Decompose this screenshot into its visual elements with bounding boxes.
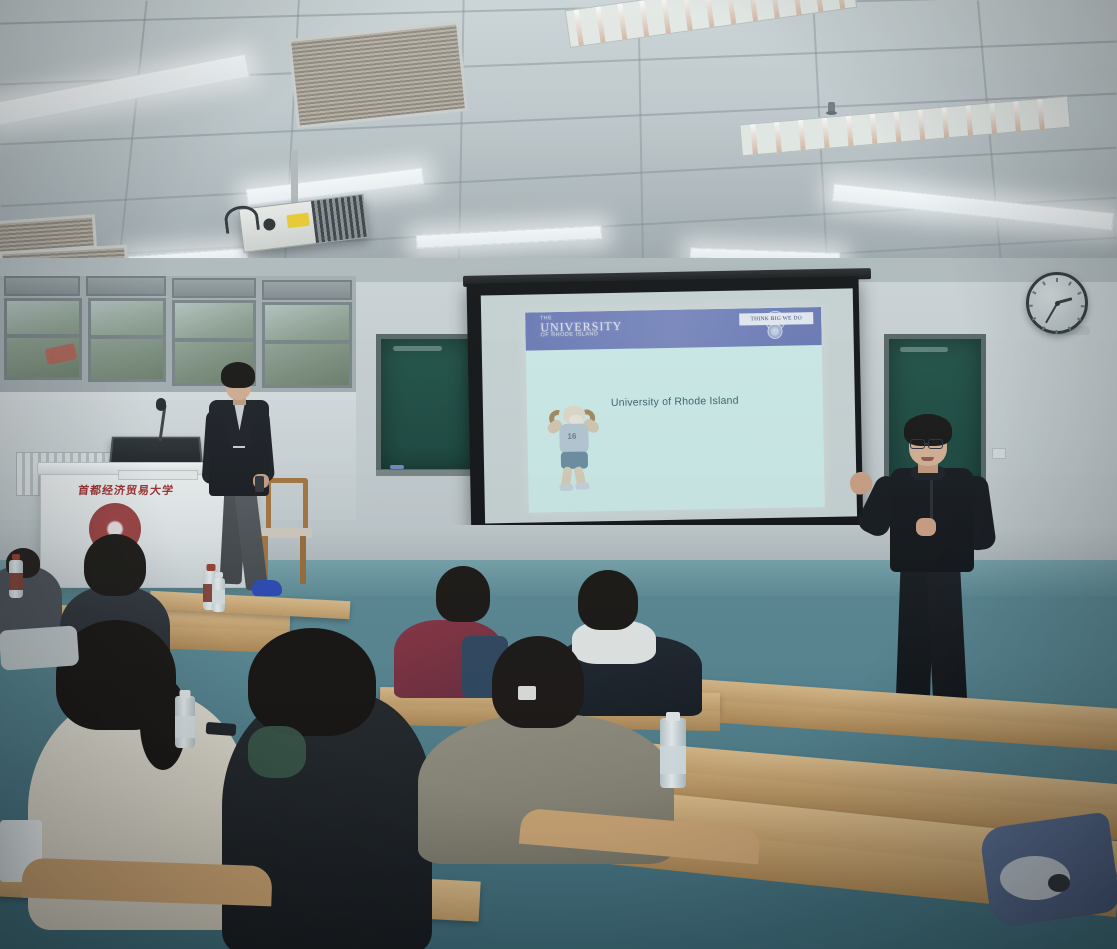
- chalk-piece: [390, 465, 404, 469]
- backpack-buckle: [1048, 874, 1070, 892]
- presenter-mouth: [921, 457, 934, 461]
- slide-header-band: THE UNIVERSITY OF RHODE ISLAND THINK BIG…: [525, 307, 822, 351]
- lectern-keyboard[interactable]: [118, 470, 198, 480]
- clock-center-pin: [1055, 301, 1060, 306]
- window-pane: [4, 298, 82, 380]
- student-mid-olive-coat-head: [492, 636, 584, 728]
- student-mid-white-hoodie-head: [578, 570, 638, 630]
- mascot-jersey-number: 16: [567, 432, 579, 442]
- window-wall: [0, 276, 356, 396]
- suspended-ceiling: [0, 0, 1117, 292]
- eyeglasses-icon: [910, 439, 925, 449]
- lectern-banner-text: 首都经济贸易大学: [77, 482, 175, 498]
- presenter: [846, 414, 1018, 714]
- eyeglasses-icon: [928, 439, 943, 449]
- water-bottle[interactable]: [9, 560, 23, 598]
- water-bottle[interactable]: [175, 696, 195, 748]
- uri-wordmark: THE UNIVERSITY OF RHODE ISLAND: [540, 315, 622, 339]
- student-green-scarf: [248, 726, 306, 778]
- tagline-text: THINK BIG WE DO: [750, 315, 802, 322]
- clock-minute-hand: [1044, 302, 1058, 323]
- eyeglasses-bridge: [924, 443, 929, 445]
- water-bottle[interactable]: [660, 718, 686, 788]
- projector-vent-grill: [311, 195, 368, 243]
- student-left-dark-jacket-head: [84, 534, 146, 596]
- smartphone[interactable]: [206, 722, 237, 736]
- host-shoe: [252, 580, 282, 596]
- hvac-vent: [288, 21, 468, 128]
- wordmark-of-rhode-island: OF RHODE ISLAND: [540, 332, 622, 339]
- wall-clock: [1026, 272, 1088, 334]
- ceiling-louver-light: [739, 96, 1071, 157]
- presenter-hand-right: [916, 518, 936, 536]
- projection-screen-surface: THE UNIVERSITY OF RHODE ISLAND THINK BIG…: [481, 288, 857, 523]
- host-hair: [221, 362, 255, 388]
- chair-leg: [300, 536, 306, 584]
- mascot-shoe-right: [575, 482, 589, 489]
- water-bottle[interactable]: [212, 578, 225, 612]
- tagline-box: THINK BIG WE DO: [739, 312, 813, 325]
- sprinkler-head: [828, 102, 835, 114]
- hair-clip-icon: [518, 686, 536, 700]
- presentation-slide: THE UNIVERSITY OF RHODE ISLAND THINK BIG…: [525, 307, 825, 513]
- projector-lens: [263, 218, 276, 231]
- window-pane: [88, 298, 166, 382]
- student-front-left-black-coat-head: [248, 628, 376, 736]
- projection-screen-frame: THE UNIVERSITY OF RHODE ISLAND THINK BIG…: [467, 276, 864, 545]
- projector-label-sticker: [286, 213, 309, 229]
- lecture-hall-photo: THE UNIVERSITY OF RHODE ISLAND THINK BIG…: [0, 0, 1117, 949]
- presenter-leg-right: [926, 565, 968, 717]
- university-seal-secondary-icon: [767, 324, 782, 339]
- student-mid-red-jacket-head: [436, 566, 490, 622]
- ceiling-light-panel: [416, 225, 602, 249]
- projection-screen-assembly: THE UNIVERSITY OF RHODE ISLAND THINK BIG…: [451, 272, 871, 547]
- host-handheld-device: [255, 476, 264, 492]
- mascot-shoe-left: [559, 484, 573, 491]
- rhody-ram-mascot-icon: 16: [545, 403, 605, 496]
- microphone-icon: [156, 398, 166, 411]
- ceiling-light-panel: [0, 53, 250, 126]
- ceiling-light-panel: [832, 183, 1114, 230]
- lectern-banner: 首都经济贸易大学: [51, 479, 201, 501]
- folded-garment: [0, 625, 79, 670]
